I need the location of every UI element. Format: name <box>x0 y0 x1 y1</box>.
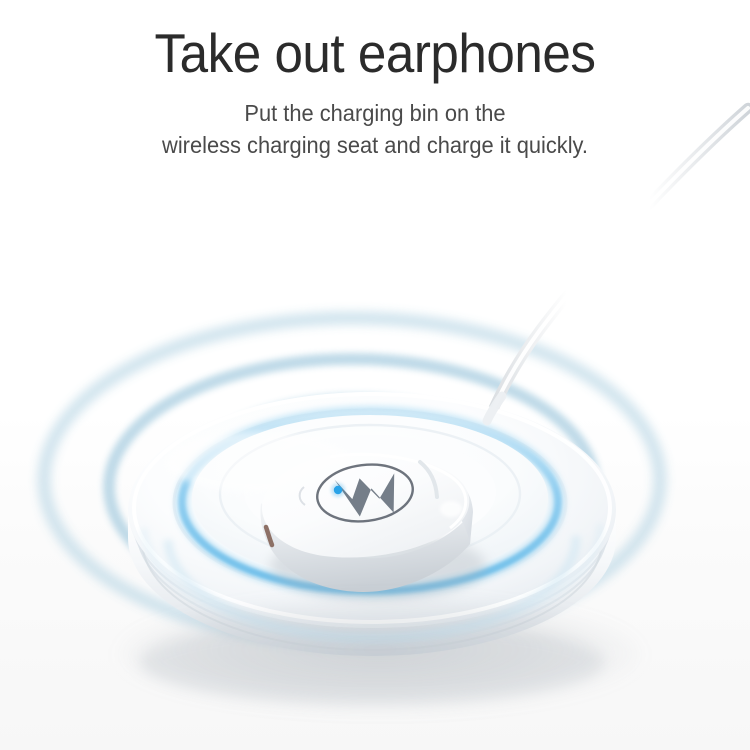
page-subtitle-line-1: Put the charging bin on the <box>19 97 732 129</box>
case-right-highlight <box>440 501 462 517</box>
page-subtitle: Put the charging bin on the wireless cha… <box>19 84 732 161</box>
page-title: Take out earphones <box>26 0 724 84</box>
floor-shadow <box>120 600 640 710</box>
text-block: Take out earphones Put the charging bin … <box>0 0 750 161</box>
charging-led-glow <box>331 483 345 497</box>
earphone-charging-case[interactable] <box>260 452 486 600</box>
product-image-canvas: Take out earphones Put the charging bin … <box>0 0 750 750</box>
page-subtitle-line-2: wireless charging seat and charge it qui… <box>19 129 732 161</box>
